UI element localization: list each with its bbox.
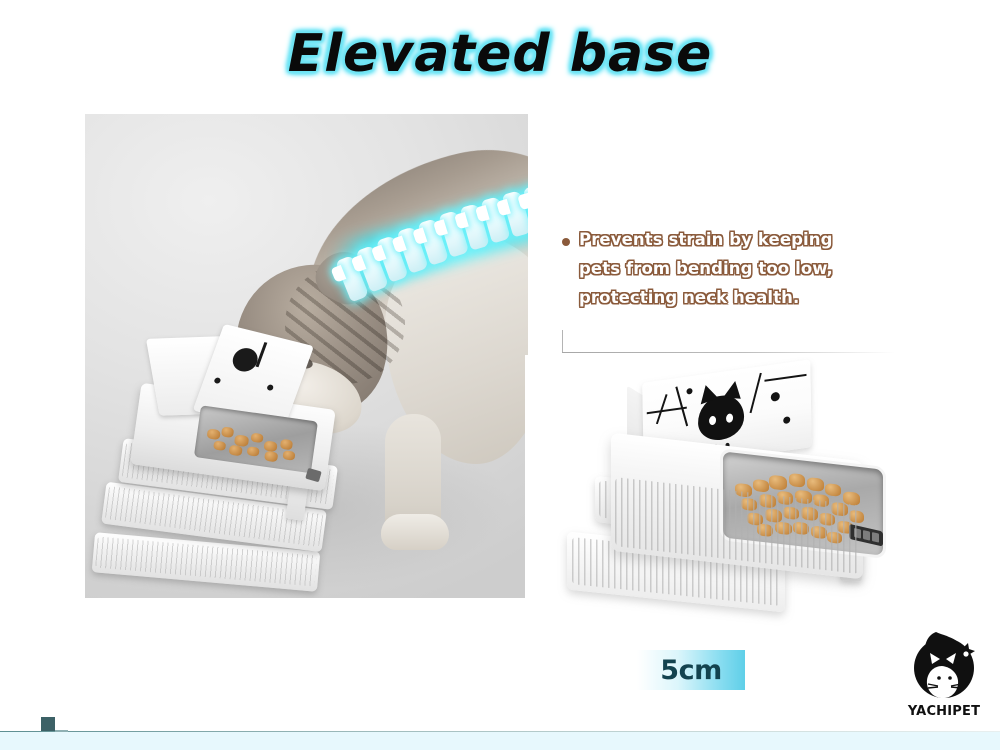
brand-logo: YACHIPET <box>898 626 990 730</box>
brand-name: YACHIPET <box>898 704 990 719</box>
feature-text-line-3: protecting neck health. <box>579 284 896 313</box>
page-title: Elevated base <box>288 24 713 84</box>
lid-dot-icon <box>783 416 790 424</box>
measurement-badge-label: 5cm <box>660 655 721 686</box>
lid-line-icon <box>764 374 806 382</box>
feature-copy-block: Prevents strain by keeping pets from ben… <box>562 226 896 313</box>
dog-cat-logo-icon <box>898 626 990 702</box>
copy-divider-horizontal <box>562 352 895 353</box>
hero-feeder <box>105 344 355 594</box>
feature-text-line-2: pets from bending too low, <box>579 255 896 284</box>
marketing-page: Elevated base <box>0 0 1000 750</box>
feeder-bowl-insert <box>194 405 318 473</box>
inset-feeder <box>555 365 925 695</box>
cat-eye-right <box>726 413 733 423</box>
footer-square-dark <box>41 717 55 732</box>
feature-text-line-1: Prevents strain by keeping <box>579 226 833 255</box>
cat-paw <box>381 514 449 550</box>
footer-band <box>0 732 1000 750</box>
lid-dot-icon <box>266 384 274 391</box>
inset-product-photo <box>525 355 945 700</box>
lid-cat-face-icon <box>698 393 745 443</box>
lid-dot-icon <box>213 377 221 384</box>
hero-product-photo <box>85 114 528 598</box>
measurement-badge: 5cm <box>637 650 745 690</box>
lid-line-icon <box>647 407 687 415</box>
bullet-dot-icon <box>562 238 570 246</box>
feeder-button-panel <box>305 468 321 482</box>
cat-eye-left <box>709 416 716 426</box>
lid-dot-icon <box>771 392 780 402</box>
lid-dot-icon <box>686 388 692 395</box>
lid-cat-graphic <box>229 346 261 374</box>
copy-divider-vertical <box>562 330 563 353</box>
headline-container: Elevated base <box>0 24 1000 84</box>
lid-line-icon <box>750 373 762 413</box>
